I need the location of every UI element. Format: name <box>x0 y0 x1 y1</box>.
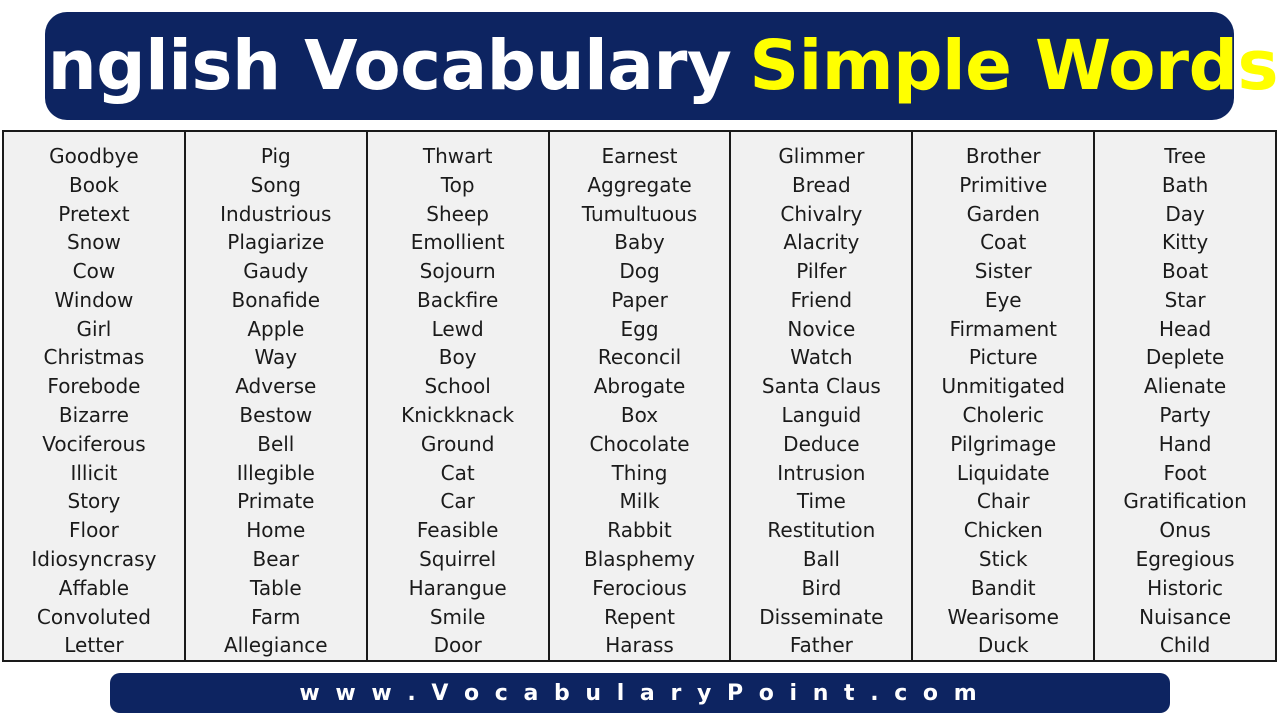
word-cell: Chocolate <box>550 430 730 459</box>
word-cell: Tree <box>1095 142 1275 171</box>
word-cell: Restitution <box>731 516 911 545</box>
word-column-7: TreeBathDayKittyBoatStarHeadDepleteAlien… <box>1095 132 1275 660</box>
word-cell: Thing <box>550 459 730 488</box>
word-cell: Table <box>186 574 366 603</box>
word-cell: Emollient <box>368 228 548 257</box>
word-cell: Friend <box>731 286 911 315</box>
page-title-primary: English Vocabulary <box>1 32 731 101</box>
word-cell: Home <box>186 516 366 545</box>
word-cell: Thwart <box>368 142 548 171</box>
word-cell: Primate <box>186 487 366 516</box>
word-cell: Convoluted <box>4 603 184 632</box>
word-cell: Pilfer <box>731 257 911 286</box>
word-cell: Abrogate <box>550 372 730 401</box>
word-cell: Head <box>1095 315 1275 344</box>
word-cell: Alienate <box>1095 372 1275 401</box>
word-cell: Affable <box>4 574 184 603</box>
word-cell: Adverse <box>186 372 366 401</box>
word-cell: Goodbye <box>4 142 184 171</box>
word-cell: Repent <box>550 603 730 632</box>
word-cell: Pretext <box>4 200 184 229</box>
footer-banner: w w w . V o c a b u l a r y P o i n t . … <box>110 673 1170 713</box>
word-cell: Aggregate <box>550 171 730 200</box>
word-cell: Bear <box>186 545 366 574</box>
word-cell: Chivalry <box>731 200 911 229</box>
word-cell: Christmas <box>4 343 184 372</box>
word-cell: Reconcil <box>550 343 730 372</box>
word-cell: Bird <box>731 574 911 603</box>
word-column-3: ThwartTopSheepEmollientSojournBackfireLe… <box>368 132 550 660</box>
website-url: w w w . V o c a b u l a r y P o i n t . … <box>299 681 980 706</box>
word-cell: Unmitigated <box>913 372 1093 401</box>
word-cell: Tumultuous <box>550 200 730 229</box>
word-cell: Backfire <box>368 286 548 315</box>
word-cell: Feasible <box>368 516 548 545</box>
word-cell: Glimmer <box>731 142 911 171</box>
word-cell: Top <box>368 171 548 200</box>
word-cell: Dog <box>550 257 730 286</box>
word-cell: Rabbit <box>550 516 730 545</box>
word-cell: Earnest <box>550 142 730 171</box>
word-cell: Onus <box>1095 516 1275 545</box>
word-cell: Gaudy <box>186 257 366 286</box>
word-cell: Nuisance <box>1095 603 1275 632</box>
word-column-2: PigSongIndustriousPlagiarizeGaudyBonafid… <box>186 132 368 660</box>
word-cell: Paper <box>550 286 730 315</box>
word-cell: Stick <box>913 545 1093 574</box>
word-cell: Sojourn <box>368 257 548 286</box>
word-cell: Harass <box>550 631 730 660</box>
word-cell: Box <box>550 401 730 430</box>
word-cell: Bizarre <box>4 401 184 430</box>
word-cell: Pilgrimage <box>913 430 1093 459</box>
word-cell: Lewd <box>368 315 548 344</box>
word-cell: Choleric <box>913 401 1093 430</box>
word-column-1: GoodbyeBookPretextSnowCowWindowGirlChris… <box>4 132 186 660</box>
word-cell: Harangue <box>368 574 548 603</box>
word-cell: Bath <box>1095 171 1275 200</box>
word-cell: Foot <box>1095 459 1275 488</box>
word-column-5: GlimmerBreadChivalryAlacrityPilferFriend… <box>731 132 913 660</box>
word-cell: Child <box>1095 631 1275 660</box>
word-column-4: EarnestAggregateTumultuousBabyDogPaperEg… <box>550 132 732 660</box>
word-cell: Baby <box>550 228 730 257</box>
word-cell: Letter <box>4 631 184 660</box>
word-cell: Farm <box>186 603 366 632</box>
word-cell: Boat <box>1095 257 1275 286</box>
word-cell: Vociferous <box>4 430 184 459</box>
header-banner: English Vocabulary Simple Words <box>45 12 1234 120</box>
word-cell: Car <box>368 487 548 516</box>
word-column-6: BrotherPrimitiveGardenCoatSisterEyeFirma… <box>913 132 1095 660</box>
word-cell: Ball <box>731 545 911 574</box>
word-cell: Watch <box>731 343 911 372</box>
word-cell: Picture <box>913 343 1093 372</box>
word-cell: Garden <box>913 200 1093 229</box>
word-cell: Liquidate <box>913 459 1093 488</box>
word-cell: Cow <box>4 257 184 286</box>
word-cell: Star <box>1095 286 1275 315</box>
word-cell: Ferocious <box>550 574 730 603</box>
word-cell: Party <box>1095 401 1275 430</box>
word-cell: Idiosyncrasy <box>4 545 184 574</box>
word-cell: Illegible <box>186 459 366 488</box>
word-cell: Boy <box>368 343 548 372</box>
word-cell: Duck <box>913 631 1093 660</box>
word-cell: School <box>368 372 548 401</box>
word-cell: Chicken <box>913 516 1093 545</box>
word-cell: Day <box>1095 200 1275 229</box>
word-cell: Brother <box>913 142 1093 171</box>
word-cell: Bandit <box>913 574 1093 603</box>
word-cell: Allegiance <box>186 631 366 660</box>
word-cell: Chair <box>913 487 1093 516</box>
word-cell: Bonafide <box>186 286 366 315</box>
word-cell: Gratification <box>1095 487 1275 516</box>
word-cell: Intrusion <box>731 459 911 488</box>
word-cell: Apple <box>186 315 366 344</box>
word-cell: Snow <box>4 228 184 257</box>
word-cell: Smile <box>368 603 548 632</box>
word-cell: Bread <box>731 171 911 200</box>
word-cell: Squirrel <box>368 545 548 574</box>
page-title-accent: Simple Words <box>749 32 1278 101</box>
word-cell: Historic <box>1095 574 1275 603</box>
word-cell: Bestow <box>186 401 366 430</box>
page-title: English Vocabulary Simple Words <box>1 32 1278 101</box>
word-cell: Egg <box>550 315 730 344</box>
word-cell: Egregious <box>1095 545 1275 574</box>
word-cell: Window <box>4 286 184 315</box>
word-cell: Santa Claus <box>731 372 911 401</box>
word-cell: Firmament <box>913 315 1093 344</box>
word-cell: Forebode <box>4 372 184 401</box>
word-cell: Primitive <box>913 171 1093 200</box>
word-cell: Way <box>186 343 366 372</box>
word-cell: Disseminate <box>731 603 911 632</box>
word-cell: Illicit <box>4 459 184 488</box>
word-cell: Deduce <box>731 430 911 459</box>
word-cell: Knickknack <box>368 401 548 430</box>
word-cell: Song <box>186 171 366 200</box>
word-cell: Industrious <box>186 200 366 229</box>
word-cell: Cat <box>368 459 548 488</box>
word-cell: Time <box>731 487 911 516</box>
word-cell: Sister <box>913 257 1093 286</box>
word-cell: Plagiarize <box>186 228 366 257</box>
word-cell: Floor <box>4 516 184 545</box>
word-cell: Languid <box>731 401 911 430</box>
vocabulary-word-table: GoodbyeBookPretextSnowCowWindowGirlChris… <box>2 130 1277 662</box>
word-cell: Blasphemy <box>550 545 730 574</box>
word-cell: Ground <box>368 430 548 459</box>
word-cell: Deplete <box>1095 343 1275 372</box>
word-cell: Novice <box>731 315 911 344</box>
word-cell: Sheep <box>368 200 548 229</box>
word-cell: Girl <box>4 315 184 344</box>
word-cell: Father <box>731 631 911 660</box>
word-cell: Wearisome <box>913 603 1093 632</box>
word-cell: Alacrity <box>731 228 911 257</box>
word-cell: Hand <box>1095 430 1275 459</box>
word-cell: Milk <box>550 487 730 516</box>
word-cell: Kitty <box>1095 228 1275 257</box>
word-cell: Book <box>4 171 184 200</box>
word-cell: Pig <box>186 142 366 171</box>
word-cell: Door <box>368 631 548 660</box>
word-cell: Story <box>4 487 184 516</box>
word-cell: Coat <box>913 228 1093 257</box>
word-cell: Bell <box>186 430 366 459</box>
word-cell: Eye <box>913 286 1093 315</box>
